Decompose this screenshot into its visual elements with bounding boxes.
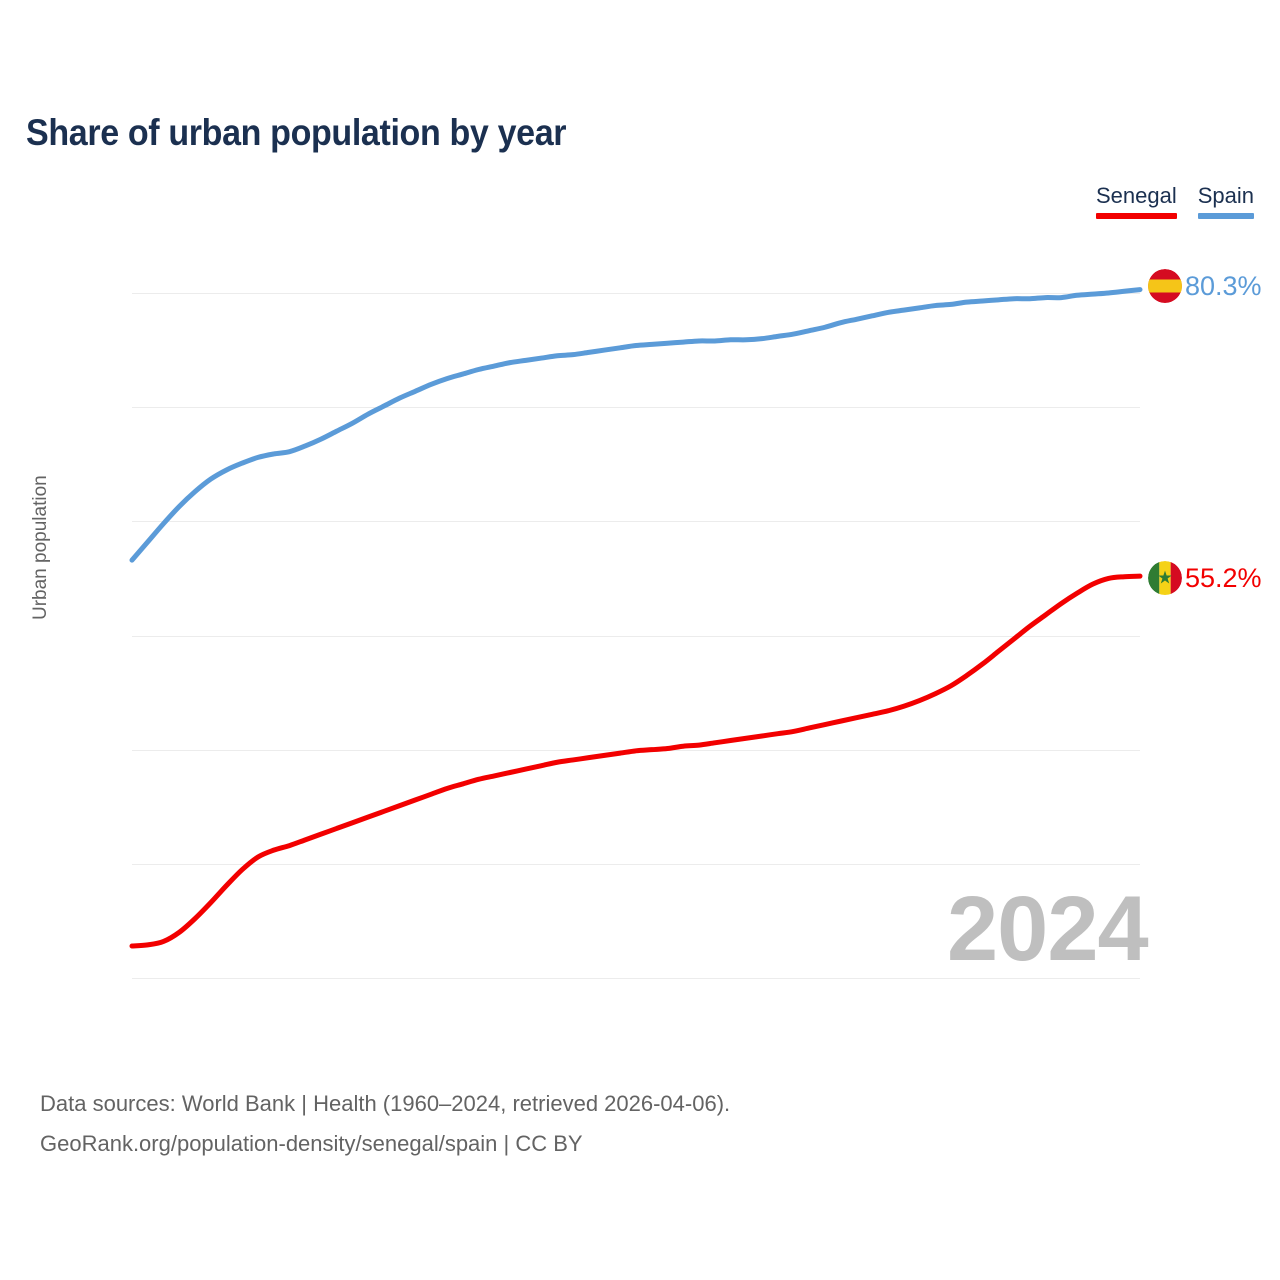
plot-area: 20%30%40%50%60%70%80% 196019701980199020… (132, 270, 1140, 982)
legend-label-senegal: Senegal (1096, 183, 1177, 209)
legend-label-spain: Spain (1198, 183, 1254, 209)
footer-sources: Data sources: World Bank | Health (1960–… (40, 1084, 730, 1164)
spain-flag-icon (1148, 269, 1182, 303)
legend-item-spain[interactable]: Spain (1198, 183, 1254, 219)
y-axis-label: Urban population (30, 475, 52, 620)
legend-color-swatch-spain (1198, 213, 1254, 219)
chart-legend: Senegal Spain (1096, 183, 1254, 219)
year-watermark: 2024 (947, 883, 1148, 975)
endpoint-value-senegal: 55.2% (1185, 563, 1262, 594)
senegal-flag-icon (1148, 561, 1182, 595)
endpoint-value-spain: 80.3% (1185, 271, 1262, 302)
series-lines (132, 270, 1140, 982)
endpoint-marker-spain: 80.3% (1148, 269, 1262, 303)
legend-item-senegal[interactable]: Senegal (1096, 183, 1177, 219)
page-title: Share of urban population by year (26, 112, 566, 154)
legend-color-swatch-senegal (1096, 213, 1177, 219)
line-series-spain (132, 290, 1140, 561)
footer-line-2: GeoRank.org/population-density/senegal/s… (40, 1124, 730, 1164)
footer-line-1: Data sources: World Bank | Health (1960–… (40, 1084, 730, 1124)
endpoint-marker-senegal: 55.2% (1148, 561, 1262, 595)
chart-page: Share of urban population by year Senega… (0, 0, 1280, 1280)
